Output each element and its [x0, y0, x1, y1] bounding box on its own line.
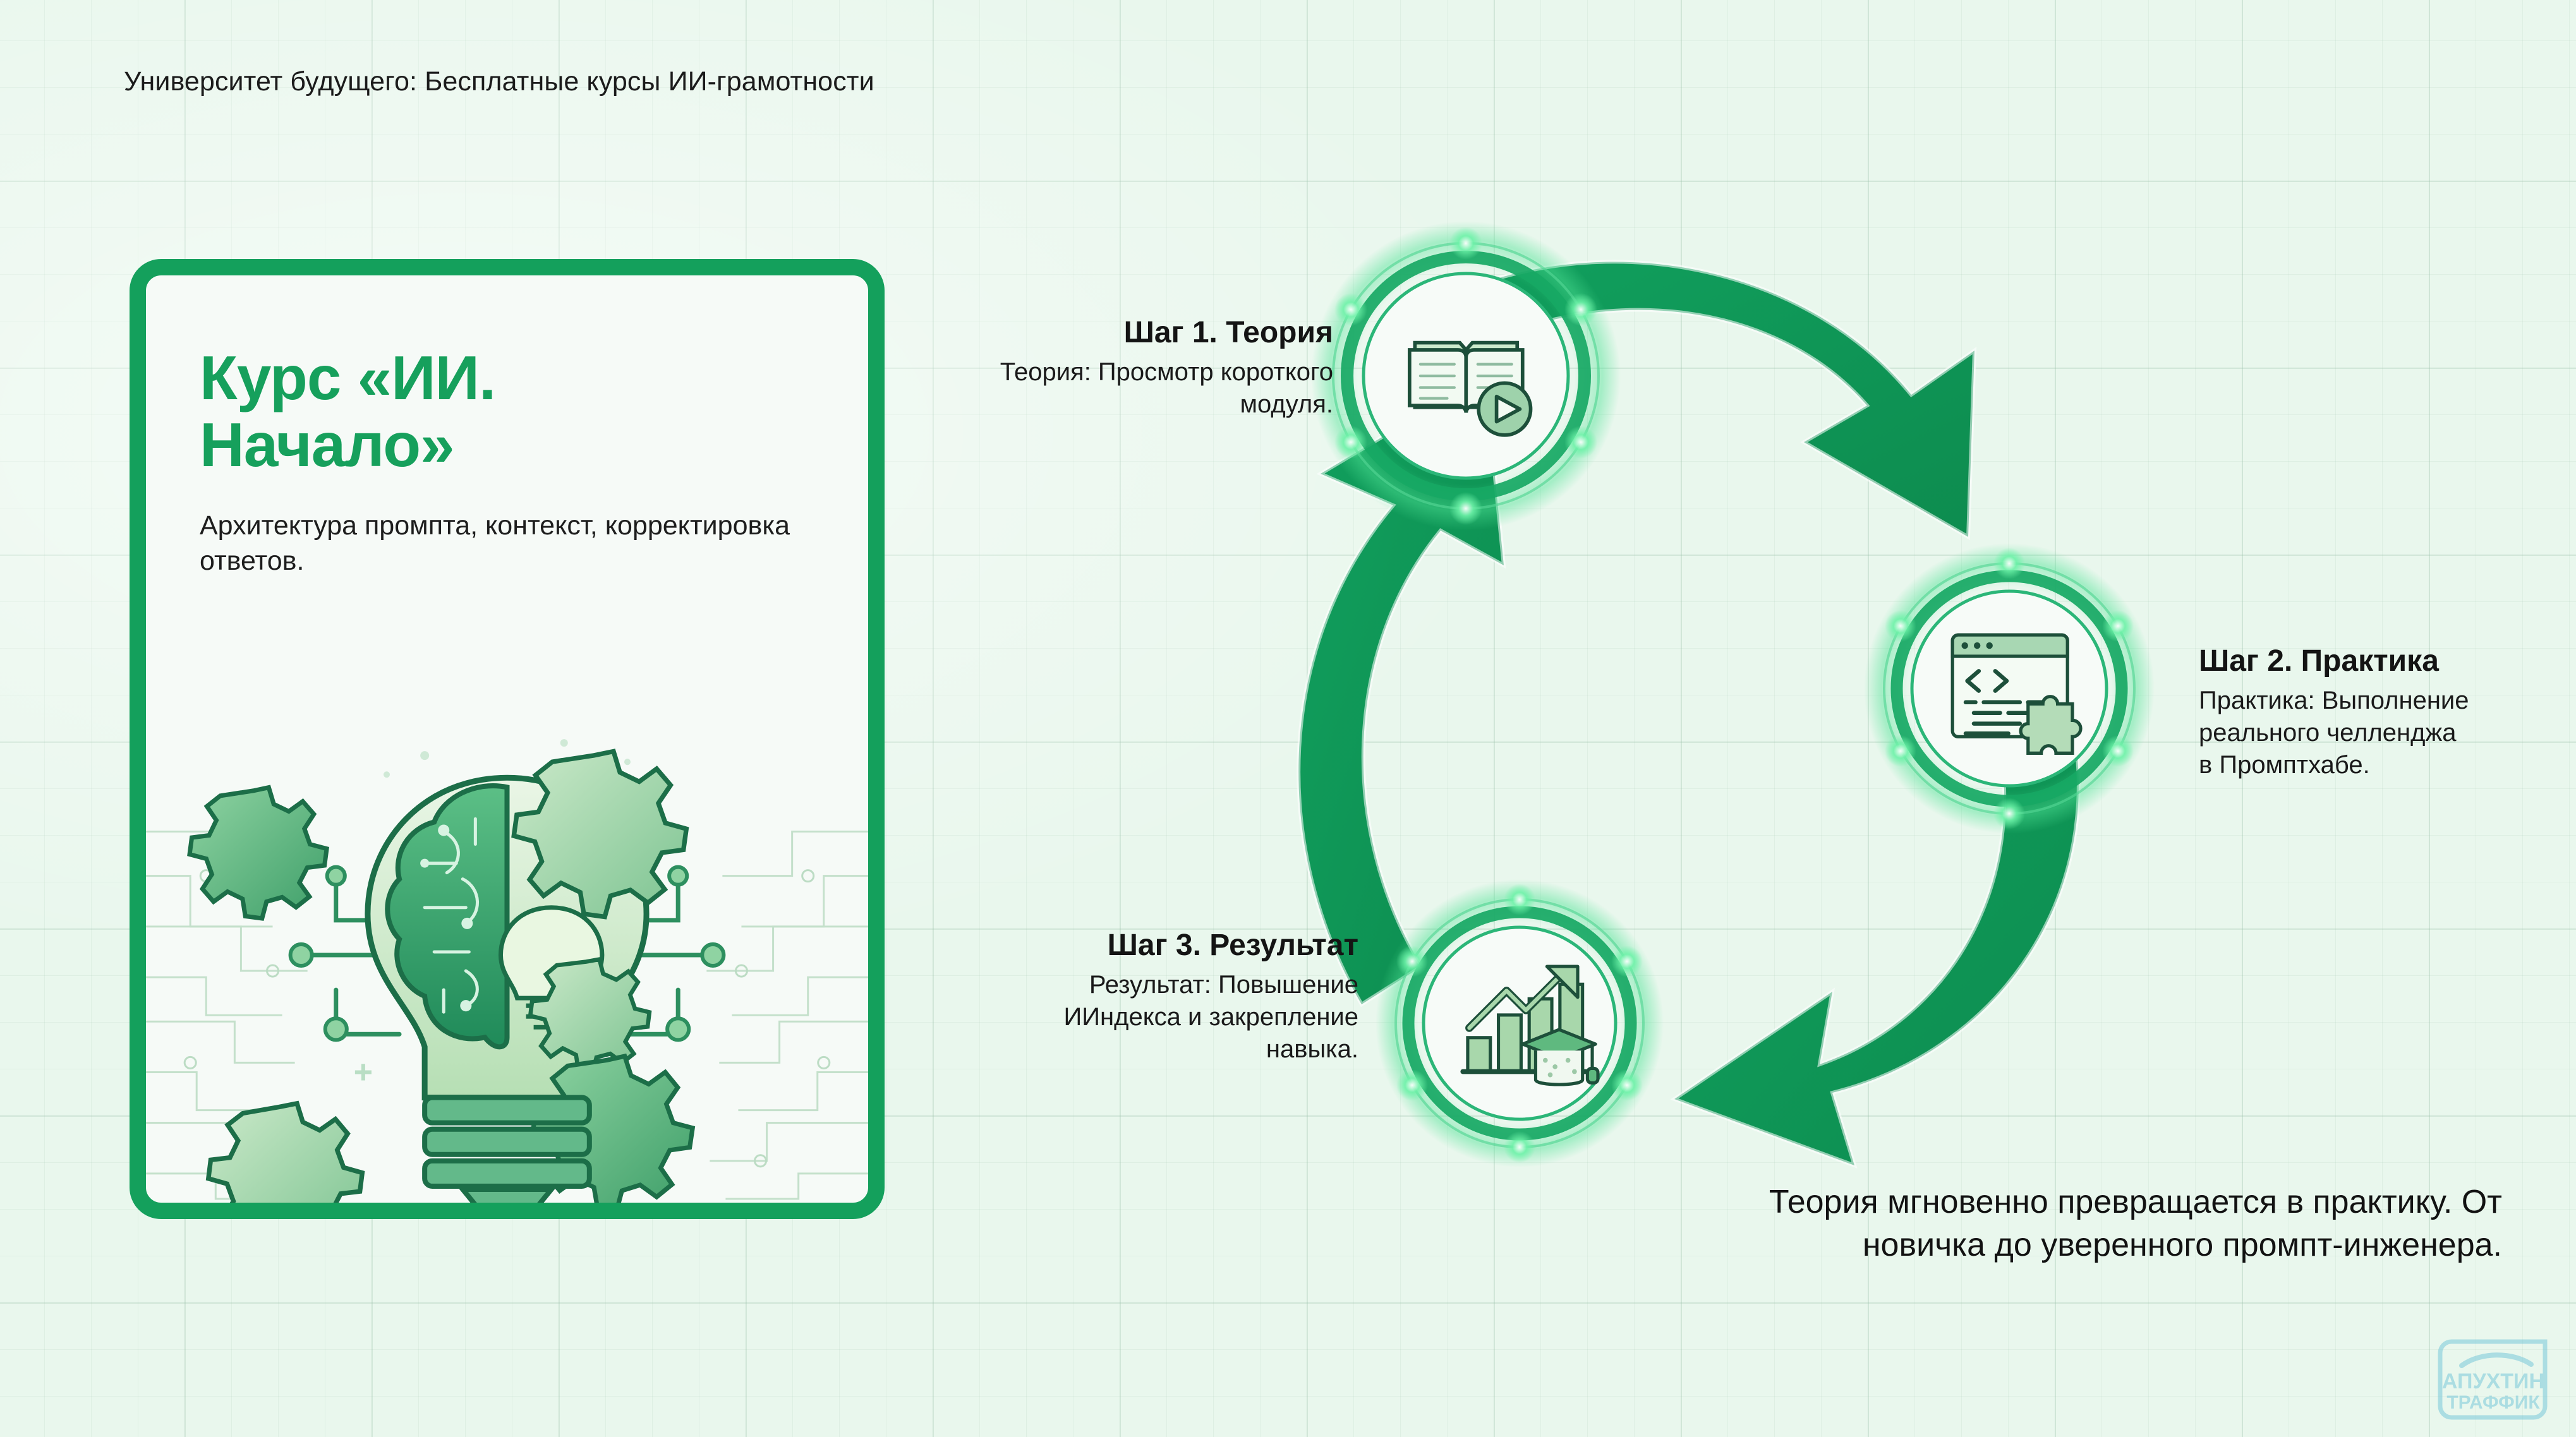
- course-card-title: Курс «ИИ. Начало»: [200, 345, 655, 479]
- cycle-node-theory: [1311, 221, 1621, 531]
- watermark-line-2: ТРАФФИК: [2446, 1392, 2540, 1413]
- step-3-description: Результат: Повышение ИИндекса и закрепле…: [1024, 969, 1358, 1066]
- course-card: Курс «ИИ. Начало» Архитектура промпта, к…: [130, 259, 885, 1219]
- page-title: Университет будущего: Бесплатные курсы И…: [124, 66, 874, 97]
- watermark-line-1: АПУХТИН: [2442, 1369, 2544, 1393]
- step-1-description: Теория: Просмотр короткого модуля.: [929, 356, 1333, 421]
- brain-lightbulb-illustration: [146, 718, 868, 1219]
- step-2-label-block: Шаг 2. Практика Практика: Выполнение реа…: [2199, 644, 2470, 781]
- course-card-inner: Курс «ИИ. Начало» Архитектура промпта, к…: [146, 275, 868, 1203]
- step-2-title: Шаг 2. Практика: [2199, 644, 2470, 678]
- learning-cycle-diagram: [1232, 208, 2211, 1232]
- cycle-node-result: [1376, 879, 1664, 1167]
- step-1-title: Шаг 1. Теория: [929, 316, 1333, 350]
- step-2-description: Практика: Выполнение реального челленджа…: [2199, 685, 2470, 782]
- summary-caption: Теория мгновенно превращается в практику…: [1706, 1181, 2502, 1266]
- step-3-label-block: Шаг 3. Результат Результат: Повышение ИИ…: [1024, 929, 1358, 1066]
- cycle-node-practice: [1864, 543, 2155, 834]
- watermark-logo: АПУХТИН ТРАФФИК: [2425, 1338, 2551, 1421]
- code-window-puzzle-icon: [1952, 635, 2081, 753]
- course-card-subtitle: Архитектура промпта, контекст, корректир…: [200, 508, 806, 580]
- step-1-label-block: Шаг 1. Теория Теория: Просмотр короткого…: [929, 316, 1333, 421]
- step-3-title: Шаг 3. Результат: [1024, 929, 1358, 963]
